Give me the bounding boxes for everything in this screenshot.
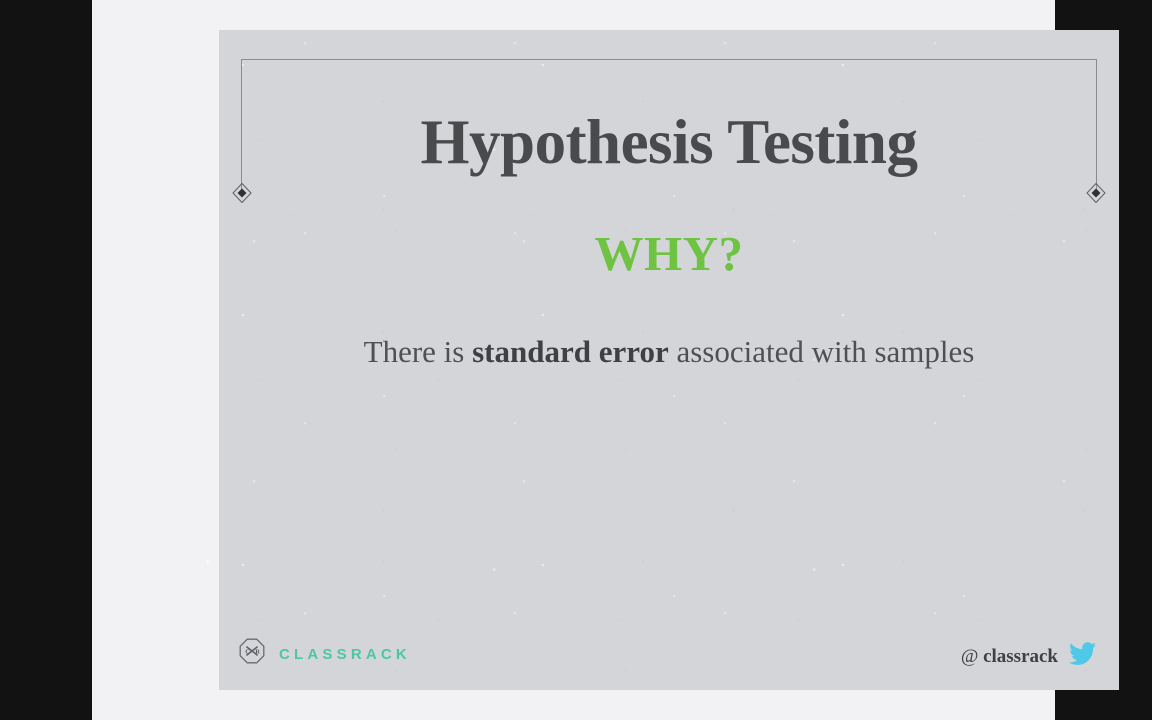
title-block: Hypothesis Testing — [219, 108, 1119, 176]
diamond-ornament-icon — [1085, 182, 1107, 204]
slide-body-text: There is standard error associated with … — [219, 333, 1119, 372]
brand-footer: C R CLASSRACK — [237, 637, 411, 672]
twitter-handle: @ classrack — [961, 646, 1058, 668]
screenshot-viewport: Hypothesis Testing WHY? There is standar… — [0, 0, 1152, 720]
twitter-bird-icon — [1067, 641, 1097, 672]
body-text-before: There is — [364, 334, 472, 369]
page-title: Hypothesis Testing — [219, 108, 1119, 176]
document-page-surface: Hypothesis Testing WHY? There is standar… — [92, 0, 1055, 720]
logo-mark-left-letter: C — [245, 649, 250, 656]
diamond-ornament-icon — [231, 182, 253, 204]
at-sign: @ — [961, 646, 979, 667]
classrack-hexagon-logo-icon: C R — [237, 637, 267, 672]
presentation-slide: Hypothesis Testing WHY? There is standar… — [219, 30, 1119, 690]
letterbox-bar-left — [0, 0, 92, 720]
body-text-emphasis: standard error — [472, 334, 669, 369]
social-footer: @ classrack — [961, 641, 1097, 672]
subtitle-block: WHY? — [219, 227, 1119, 281]
logo-mark-right-letter: R — [255, 649, 260, 656]
frame-rule-top — [241, 59, 1097, 60]
twitter-handle-name: classrack — [983, 646, 1058, 667]
body-text-after: associated with samples — [669, 334, 975, 369]
body-block: There is standard error associated with … — [219, 333, 1119, 372]
slide-subtitle: WHY? — [219, 227, 1119, 281]
brand-wordmark: CLASSRACK — [279, 646, 411, 663]
